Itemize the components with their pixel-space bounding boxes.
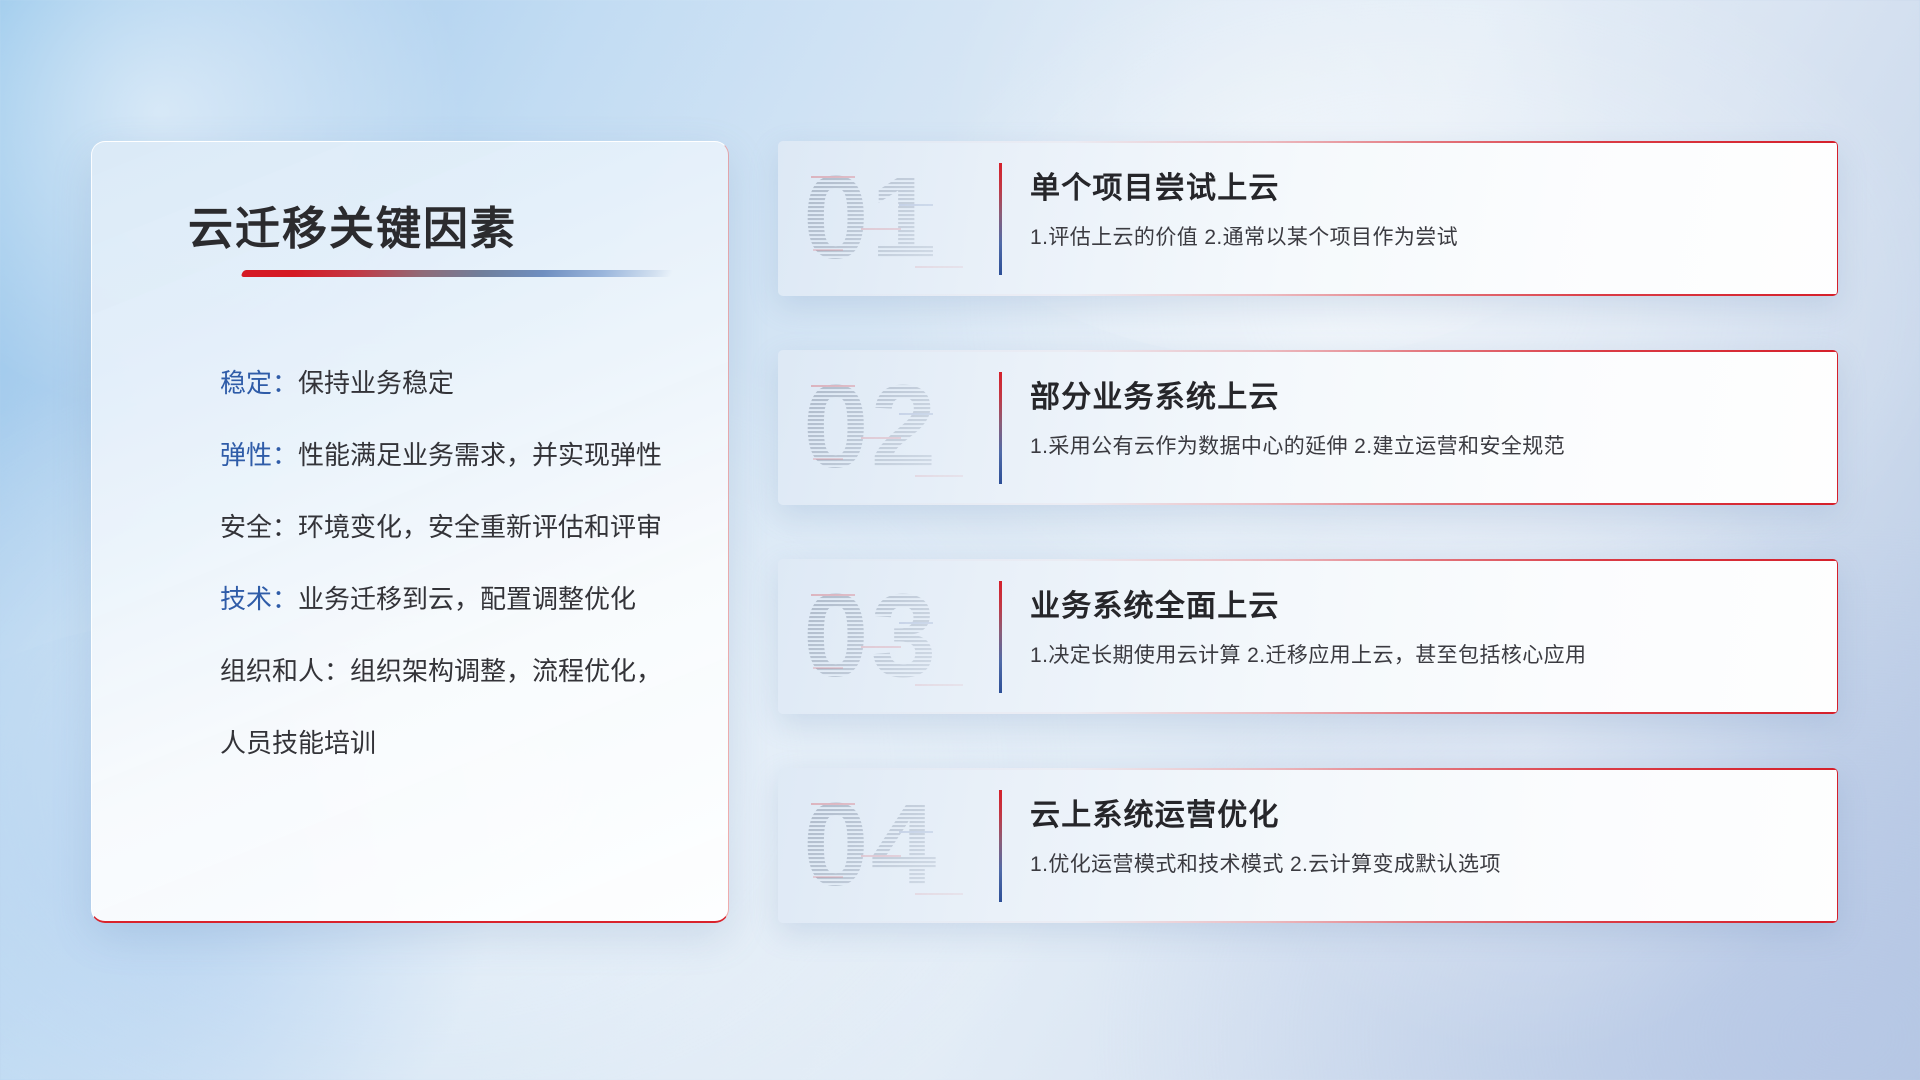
stage-divider-accent bbox=[999, 790, 1002, 902]
key-factor-value: 业务迁移到云，配置调整优化 bbox=[298, 584, 636, 614]
key-factor-value: 保持业务稳定 bbox=[298, 368, 454, 398]
stage-subtitle: 1.优化运营模式和技术模式 2.云计算变成默认选项 bbox=[1030, 848, 1501, 878]
stage-divider-accent bbox=[999, 163, 1002, 275]
stage-title: 单个项目尝试上云 bbox=[1030, 163, 1280, 207]
stage-card-01[interactable]: 0101单个项目尝试上云1.评估上云的价值 2.通常以某个项目作为尝试 bbox=[778, 141, 1838, 296]
stage-number-01: 0101 bbox=[803, 154, 1003, 282]
stage-card-list: 0101单个项目尝试上云1.评估上云的价值 2.通常以某个项目作为尝试0202部… bbox=[778, 141, 1838, 923]
stage-number-04: 0404 bbox=[803, 781, 1003, 909]
stage-divider-accent bbox=[999, 372, 1002, 484]
key-factor-label: 弹性： bbox=[220, 440, 298, 470]
stage-subtitle: 1.评估上云的价值 2.通常以某个项目作为尝试 bbox=[1030, 221, 1458, 251]
stage-number-02: 0202 bbox=[803, 363, 1003, 491]
svg-text:03: 03 bbox=[803, 572, 938, 700]
key-factor-row: 稳定：保持业务稳定 bbox=[220, 370, 688, 396]
title-underline-accent bbox=[241, 270, 674, 277]
key-factor-label: 安全： bbox=[220, 512, 298, 542]
stage-card-03[interactable]: 0303业务系统全面上云1.决定长期使用云计算 2.迁移应用上云，甚至包括核心应… bbox=[778, 559, 1838, 714]
key-factor-value: 组织架构调整，流程优化， bbox=[350, 656, 662, 686]
key-factor-row: 安全：环境变化，安全重新评估和评审 bbox=[220, 514, 688, 540]
key-factors-card: 云迁移关键因素 稳定：保持业务稳定弹性：性能满足业务需求，并实现弹性安全：环境变… bbox=[91, 141, 729, 923]
key-factor-row: 技术：业务迁移到云，配置调整优化 bbox=[220, 586, 688, 612]
stage-divider-accent bbox=[999, 581, 1002, 693]
stage-title: 部分业务系统上云 bbox=[1030, 372, 1280, 416]
key-factor-row: 组织和人：组织架构调整，流程优化， bbox=[220, 658, 688, 684]
stage-subtitle: 1.决定长期使用云计算 2.迁移应用上云，甚至包括核心应用 bbox=[1030, 639, 1586, 669]
stage-title: 云上系统运营优化 bbox=[1030, 790, 1280, 834]
stage-card-04[interactable]: 0404云上系统运营优化1.优化运营模式和技术模式 2.云计算变成默认选项 bbox=[778, 768, 1838, 923]
stage-subtitle: 1.采用公有云作为数据中心的延伸 2.建立运营和安全规范 bbox=[1030, 430, 1565, 460]
key-factor-value: 人员技能培训 bbox=[220, 728, 376, 758]
page-title: 云迁移关键因素 bbox=[188, 192, 517, 257]
key-factor-label: 稳定： bbox=[220, 368, 298, 398]
key-factor-label: 技术： bbox=[220, 584, 298, 614]
stage-title: 业务系统全面上云 bbox=[1030, 581, 1280, 625]
key-factors-list: 稳定：保持业务稳定弹性：性能满足业务需求，并实现弹性安全：环境变化，安全重新评估… bbox=[220, 370, 688, 756]
key-factor-label: 组织和人： bbox=[220, 656, 350, 686]
svg-text:01: 01 bbox=[803, 154, 938, 282]
svg-text:02: 02 bbox=[803, 363, 938, 491]
stage-number-03: 0303 bbox=[803, 572, 1003, 700]
svg-text:04: 04 bbox=[803, 781, 938, 909]
key-factor-value: 性能满足业务需求，并实现弹性 bbox=[298, 440, 662, 470]
key-factor-row: 人员技能培训 bbox=[220, 730, 688, 756]
stage-card-02[interactable]: 0202部分业务系统上云1.采用公有云作为数据中心的延伸 2.建立运营和安全规范 bbox=[778, 350, 1838, 505]
key-factor-value: 环境变化，安全重新评估和评审 bbox=[298, 512, 662, 542]
key-factor-row: 弹性：性能满足业务需求，并实现弹性 bbox=[220, 442, 688, 468]
